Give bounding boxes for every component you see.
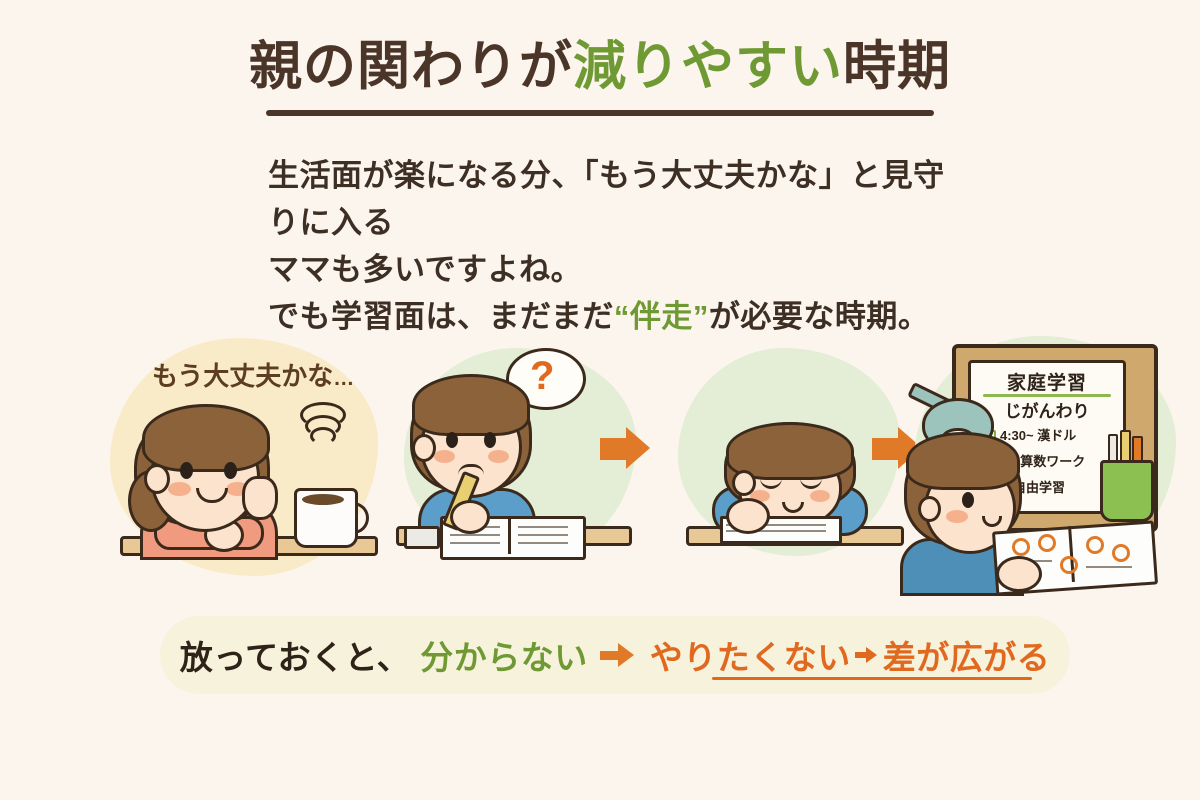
boy-cheek-left xyxy=(434,450,455,463)
body-line-3-post: が必要な時期。 xyxy=(709,299,930,334)
title-highlight: 減りやすい xyxy=(573,37,843,96)
tired-boy-hand xyxy=(726,498,770,534)
plan-boy-cheek xyxy=(946,510,968,523)
swirl-doodle-icon xyxy=(310,427,336,445)
plan-boy-hand xyxy=(996,556,1042,592)
summary-banner: 放っておくと、 分からない やりたくない 差が広がる xyxy=(160,616,1070,694)
eraser xyxy=(404,526,440,549)
book-text-line xyxy=(518,542,568,544)
banner-step-3: 差が広がる xyxy=(883,631,1051,679)
book-spine xyxy=(508,516,511,554)
pencil-cup xyxy=(1100,460,1154,522)
mother-ear xyxy=(144,464,170,494)
board-title: 家庭学習 xyxy=(971,368,1123,395)
workbook-mark xyxy=(1012,538,1030,556)
title-block: 親の関わりが減りやすい時期 xyxy=(0,38,1200,116)
plan-boy-ear xyxy=(918,496,941,522)
banner-step-2: やりたくない xyxy=(650,631,851,679)
body-line-1: 生活面が楽になる分、「もう大丈夫かな」と見守りに入る xyxy=(268,152,968,246)
workbook-mark xyxy=(1086,536,1104,554)
board-subtitle: じがんわり xyxy=(971,397,1123,422)
banner-arrow-icon xyxy=(600,643,638,667)
body-line-2: ママも多いですよね。 xyxy=(268,246,968,293)
boy-cheek-right xyxy=(488,450,509,463)
workbook-line xyxy=(1086,566,1132,568)
mother-hand-at-cheek xyxy=(242,476,278,520)
boy-hair-fringe xyxy=(412,374,530,436)
book-text-line xyxy=(450,542,500,544)
boy-eye-left xyxy=(446,432,458,448)
workbook-mark xyxy=(1060,556,1078,574)
boy-eye-right xyxy=(484,432,496,448)
mother-eye-right xyxy=(224,462,237,479)
summary-banner-content: 放っておくと、 分からない やりたくない 差が広がる xyxy=(160,616,1070,694)
title-part-1: 親の関わりが xyxy=(249,37,573,96)
body-copy: 生活面が楽になる分、「もう大丈夫かな」と見守りに入る ママも多いですよね。 でも… xyxy=(268,152,968,340)
panel-study-plan: 家庭学習 じがんわり 4:30~ 漢ドル 5:00~ 算数ワーク :30~ 自由… xyxy=(900,330,1200,610)
boy-ear xyxy=(412,434,436,462)
body-line-3-pre: でも学習面は、まだまだ xyxy=(268,299,614,334)
workbook-mark xyxy=(1038,534,1056,552)
question-mark-icon: ? xyxy=(530,356,554,396)
book-text-line xyxy=(450,534,500,536)
plan-boy-eye xyxy=(962,492,974,508)
banner-step-1: 分からない xyxy=(420,631,588,679)
tired-boy-cheek-right xyxy=(810,490,830,502)
page-title: 親の関わりが減りやすい時期 xyxy=(0,38,1200,96)
mother-hair-front xyxy=(142,404,270,472)
panel-mother-caption: もう大丈夫かな… xyxy=(152,356,354,393)
book-text-line xyxy=(518,534,568,536)
banner-lead-text: 放っておくと、 xyxy=(180,631,411,679)
banner-arrow-small-icon xyxy=(855,647,879,663)
workbook-mark xyxy=(1112,544,1130,562)
title-underline-rule xyxy=(266,110,934,116)
book-text-line xyxy=(518,526,568,528)
illustration-strip: もう大丈夫かな… xyxy=(0,330,1200,610)
board-row-task: 漢ドル xyxy=(1037,428,1076,443)
board-row-task: 算数ワーク xyxy=(1020,454,1085,469)
panel-mother-caption-main: もう大丈夫かな xyxy=(152,361,333,391)
plan-boy-hair-fringe xyxy=(906,432,1020,490)
title-part-2: 時期 xyxy=(843,37,951,96)
panel-confused-boy: ? xyxy=(396,330,646,610)
coffee-surface xyxy=(302,494,344,505)
body-line-3-highlight: “伴走” xyxy=(614,299,709,334)
panel-mother: もう大丈夫かな… xyxy=(96,330,396,610)
panel-tired-boy xyxy=(676,330,906,610)
boy-hand xyxy=(450,500,490,534)
infographic-canvas: 親の関わりが減りやすい時期 生活面が楽になる分、「もう大丈夫かな」と見守りに入る… xyxy=(0,0,1200,800)
banner-underline xyxy=(712,677,1032,680)
mother-eye-left xyxy=(180,462,193,479)
mother-cheek-left xyxy=(168,482,191,496)
panel-mother-caption-tail: … xyxy=(333,367,354,390)
